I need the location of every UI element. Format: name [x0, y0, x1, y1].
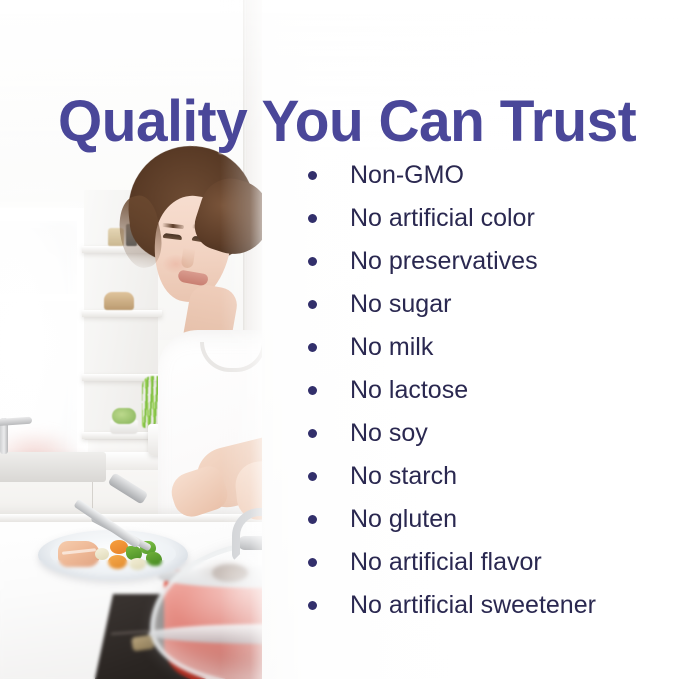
list-item-label: No artificial sweetener	[350, 591, 596, 619]
list-item: No sugar	[300, 287, 670, 330]
bullet-icon	[308, 171, 317, 180]
list-item: No soy	[300, 416, 670, 459]
bullet-icon	[308, 257, 317, 266]
bullet-icon	[308, 558, 317, 567]
list-item: Non-GMO	[300, 158, 670, 201]
bullet-icon	[308, 300, 317, 309]
promo-graphic: Quality You Can Trust Non-GMO No artific…	[0, 0, 679, 679]
bullet-icon	[308, 601, 317, 610]
list-item: No artificial sweetener	[300, 588, 670, 631]
list-item-label: No preservatives	[350, 247, 538, 275]
list-item: No milk	[300, 330, 670, 373]
list-item: No gluten	[300, 502, 670, 545]
list-item-label: No gluten	[350, 505, 457, 533]
list-item: No artificial flavor	[300, 545, 670, 588]
bullet-icon	[308, 386, 317, 395]
list-item-label: No soy	[350, 419, 428, 447]
list-item-label: No artificial flavor	[350, 548, 542, 576]
bullet-icon	[308, 472, 317, 481]
list-item-label: No starch	[350, 462, 457, 490]
page-title: Quality You Can Trust	[58, 91, 634, 153]
bullet-icon	[308, 515, 317, 524]
list-item: No starch	[300, 459, 670, 502]
bullet-icon	[308, 343, 317, 352]
bullet-icon	[308, 214, 317, 223]
benefits-list: Non-GMO No artificial color No preservat…	[300, 158, 670, 631]
bullet-icon	[308, 429, 317, 438]
list-item-label: No artificial color	[350, 204, 535, 232]
list-item: No lactose	[300, 373, 670, 416]
list-item-label: No milk	[350, 333, 433, 361]
list-item-label: No sugar	[350, 290, 451, 318]
list-item: No artificial color	[300, 201, 670, 244]
list-item-label: Non-GMO	[350, 161, 464, 189]
list-item-label: No lactose	[350, 376, 468, 404]
text-content: Quality You Can Trust Non-GMO No artific…	[0, 0, 679, 679]
list-item: No preservatives	[300, 244, 670, 287]
